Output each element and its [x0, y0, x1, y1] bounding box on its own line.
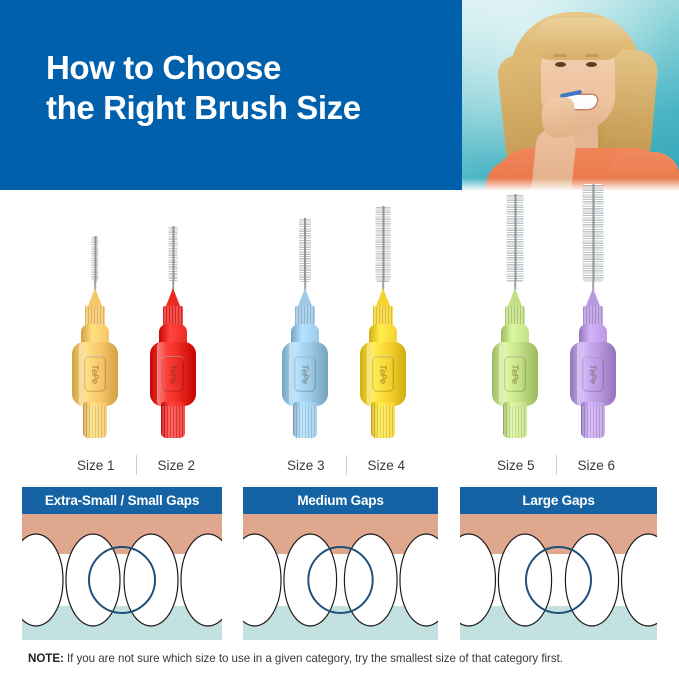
photo-eyebrow-left [553, 54, 567, 57]
page-title-line-2: the Right Brush Size [46, 88, 446, 128]
brush-bristles [169, 226, 178, 282]
teeth-diagram-svg [460, 514, 657, 640]
brush-size-5: TePe [484, 208, 546, 438]
brush-body: TePe [282, 342, 328, 406]
brush-handle: TePe [150, 288, 196, 438]
brush-neck-ribs [583, 306, 603, 326]
brush-wire-core [172, 226, 174, 282]
brush-bristles [507, 194, 524, 282]
page-title: How to Choose the Right Brush Size [46, 48, 446, 128]
photo-fringe [534, 18, 624, 60]
gap-panel-title-1: Extra-Small / Small Gaps [22, 487, 222, 514]
brush-tip-cone [166, 288, 180, 306]
brush-tip-cone [298, 288, 312, 306]
teeth-diagram-svg [243, 514, 438, 640]
brush-bristles [583, 184, 604, 282]
photo-eye-left [555, 62, 566, 67]
brush-tip-cone [376, 288, 390, 306]
brush-wire-core [514, 194, 516, 282]
teeth-diagram-1 [22, 514, 222, 640]
brush-handle: TePe [492, 288, 538, 438]
brush-size-3: TePe [274, 208, 336, 438]
brush-wire-core [94, 236, 96, 282]
brush-neck-ribs [85, 306, 105, 326]
size-labels-group-2: Size 3 Size 4 [266, 455, 426, 475]
brush-body: TePe [360, 342, 406, 406]
brush-logo-emboss: TePe [162, 356, 184, 392]
brush-logo-text: TePe [510, 364, 520, 383]
brush-foot-ribs [581, 406, 605, 438]
brush-body: TePe [492, 342, 538, 406]
gap-panel-title-2: Medium Gaps [243, 487, 438, 514]
brush-group-medium: TePe TePe [266, 196, 426, 476]
brush-logo-text: TePe [168, 364, 178, 383]
gap-panel-title-3: Large Gaps [460, 487, 657, 514]
size-labels-group-1: Size 1 Size 2 [56, 455, 216, 475]
bone-band [460, 606, 657, 640]
brush-tip-cone [586, 288, 600, 306]
brush-body: TePe [72, 342, 118, 406]
brush-logo-emboss: TePe [582, 356, 604, 392]
brush-foot-ribs [293, 406, 317, 438]
brush-logo-text: TePe [378, 364, 388, 383]
size-label-4: Size 4 [347, 458, 427, 473]
brush-size-1: TePe [64, 208, 126, 438]
brush-size-6: TePe [562, 208, 624, 438]
gap-panels: Extra-Small / Small Gaps Medium Gaps Lar… [0, 487, 679, 640]
brush-group-large: TePe TePe [476, 196, 636, 476]
page-title-line-1: How to Choose [46, 48, 446, 88]
brush-logo-text: TePe [90, 364, 100, 383]
brush-body: TePe [150, 342, 196, 406]
brush-foot-ribs [161, 406, 185, 438]
brush-logo-text: TePe [588, 364, 598, 383]
brush-bristles [299, 218, 311, 282]
photo-eyebrow-right [585, 54, 599, 57]
photo-eye-right [586, 62, 597, 67]
brush-wire-core [592, 184, 594, 282]
size-labels-group-3: Size 5 Size 6 [476, 455, 636, 475]
brush-handle: TePe [360, 288, 406, 438]
size-label-2: Size 2 [137, 458, 217, 473]
brush-body: TePe [570, 342, 616, 406]
brush-tip-cone [88, 288, 102, 306]
photo-bottom-fade [462, 178, 679, 192]
teeth-diagram-3 [460, 514, 657, 640]
brush-foot-ribs [371, 406, 395, 438]
brush-wire-core [382, 206, 384, 282]
size-label-1: Size 1 [56, 458, 136, 473]
brush-group-extra-small-small: TePe TePe [56, 196, 216, 476]
hero-photo [462, 0, 679, 192]
size-label-6: Size 6 [557, 458, 637, 473]
gap-panel-extra-small-small: Extra-Small / Small Gaps [22, 487, 222, 640]
brush-foot-ribs [503, 406, 527, 438]
brush-neck-ribs [373, 306, 393, 326]
brush-neck-ribs [505, 306, 525, 326]
size-label-3: Size 3 [266, 458, 346, 473]
brush-wire-core [304, 218, 306, 282]
brush-logo-text: TePe [300, 364, 310, 383]
brush-bristles [376, 206, 391, 282]
brush-bristles [92, 236, 99, 282]
brush-neck-ribs [163, 306, 183, 326]
teeth-diagram-svg [22, 514, 222, 640]
size-label-5: Size 5 [476, 458, 556, 473]
footer-note-text: If you are not sure which size to use in… [64, 652, 563, 665]
brush-logo-emboss: TePe [84, 356, 106, 392]
gap-panel-medium: Medium Gaps [243, 487, 438, 640]
size-label-row: Size 1 Size 2 Size 3 Size 4 Size 5 Size … [0, 455, 679, 479]
brush-tip-cone [508, 288, 522, 306]
teeth-diagram-2 [243, 514, 438, 640]
brush-handle: TePe [72, 288, 118, 438]
brush-logo-emboss: TePe [294, 356, 316, 392]
footer-note-prefix: NOTE: [28, 652, 64, 665]
brush-showcase: TePe TePe TePe TePe TePe TePe [0, 196, 679, 476]
brush-size-4: TePe [352, 208, 414, 438]
brush-size-2: TePe [142, 208, 204, 438]
footer-note: NOTE: If you are not sure which size to … [28, 652, 563, 665]
header-banner: How to Choose the Right Brush Size [0, 0, 679, 192]
brush-handle: TePe [282, 288, 328, 438]
brush-foot-ribs [83, 406, 107, 438]
brush-neck-ribs [295, 306, 315, 326]
brush-handle: TePe [570, 288, 616, 438]
gap-panel-large: Large Gaps [460, 487, 657, 640]
brush-logo-emboss: TePe [504, 356, 526, 392]
brush-logo-emboss: TePe [372, 356, 394, 392]
